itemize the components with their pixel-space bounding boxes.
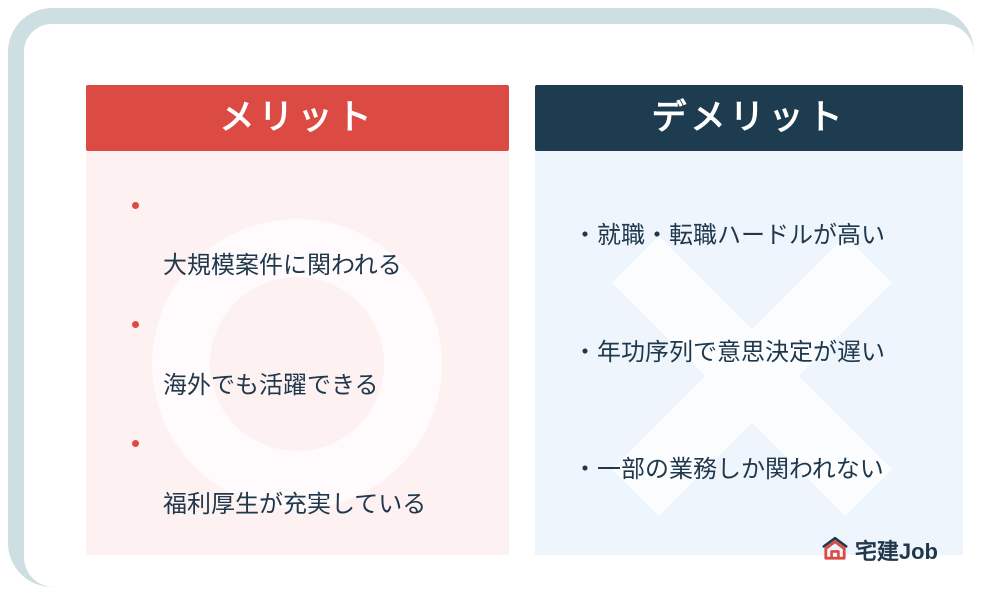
merit-panel: 大規模案件に関われる 海外でも活躍できる 福利厚生が充実している プライベートを… — [86, 151, 509, 555]
screenshot-frame: メリット 大規模案件に関われる 海外でも活躍できる 福利厚生が充実している — [0, 0, 998, 611]
list-item: ・年功序列で意思決定が遅い — [573, 307, 963, 399]
bullet-dot-icon — [132, 321, 139, 328]
list-item-label: 大規模案件に関われる — [163, 252, 402, 279]
brand-logo-text: 宅建Job — [855, 534, 938, 566]
list-item: 海外でも活躍できる — [130, 309, 509, 401]
list-item-label: 海外でも活躍できる — [163, 372, 379, 399]
list-item-label: ・一部の業務しか関われない — [573, 455, 963, 486]
merit-header: メリット — [86, 85, 509, 151]
list-item-label: 福利厚生が充実している — [163, 491, 426, 518]
merit-column: メリット 大規模案件に関われる 海外でも活躍できる 福利厚生が充実している — [86, 85, 509, 555]
demerit-column: デメリット ・就職・転職ハードルが高い ・年功序列で意思決定が遅い ・一部の業務… — [535, 85, 963, 555]
list-item: ・就職・転職ハードルが高い — [573, 190, 963, 282]
bullet-dot-icon — [132, 202, 139, 209]
demerit-list: ・就職・転職ハードルが高い ・年功序列で意思決定が遅い ・一部の業務しか関われな… — [535, 151, 963, 555]
list-item: ・一部の業務しか関われない — [573, 424, 963, 516]
merit-list: 大規模案件に関われる 海外でも活躍できる 福利厚生が充実している プライベートを… — [86, 151, 509, 555]
house-icon — [822, 536, 848, 565]
demerit-panel: ・就職・転職ハードルが高い ・年功序列で意思決定が遅い ・一部の業務しか関われな… — [535, 151, 963, 555]
brand-logo: 宅建Job — [822, 534, 938, 566]
list-item-label: ・年功序列で意思決定が遅い — [573, 338, 963, 369]
bullet-dot-icon — [132, 440, 139, 447]
content-card: メリット 大規模案件に関われる 海外でも活躍できる 福利厚生が充実している — [24, 24, 974, 587]
list-item: 福利厚生が充実している — [130, 428, 509, 520]
list-item: プライベートを分けやすい — [130, 547, 509, 555]
demerit-header: デメリット — [535, 85, 963, 151]
list-item-label: ・就職・転職ハードルが高い — [573, 221, 963, 252]
list-item: 大規模案件に関われる — [130, 190, 509, 282]
